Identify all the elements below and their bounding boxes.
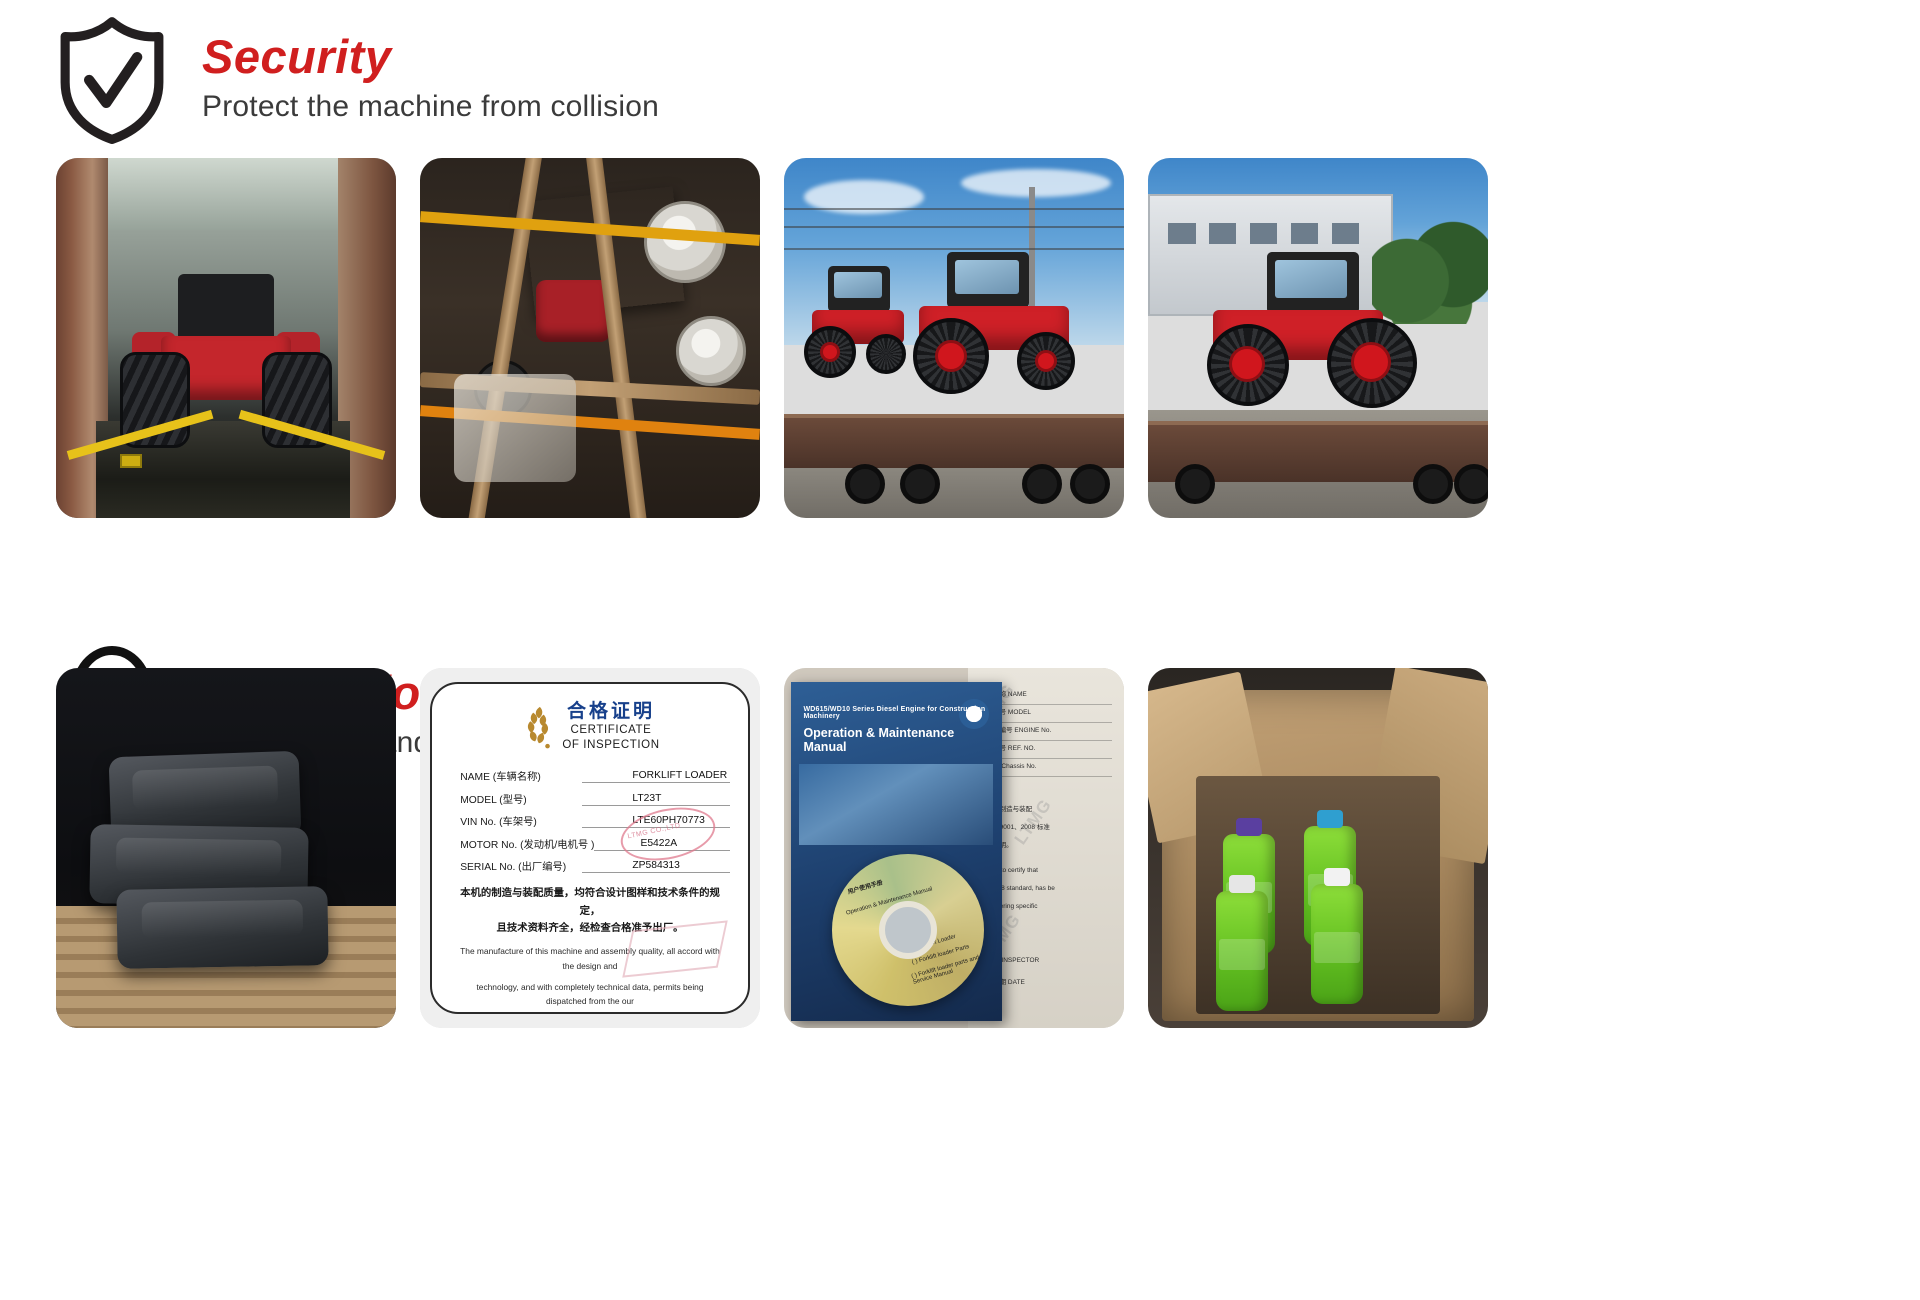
statement-cn-line-1: 本机的制造与装配质量，均符合设计图样和技术条件的规定，: [450, 885, 730, 920]
stamp-text: LTMG CO.,LTD: [627, 822, 681, 840]
row-label-en: MODEL: [1008, 709, 1031, 716]
photo-green-bottles-in-cardboard-box[interactable]: [1148, 668, 1488, 1028]
certificate-card: 合格证明 CERTIFICATE OF INSPECTION NAME (车辆名…: [430, 682, 750, 1013]
statement-en-line-2: technology, and with completely technica…: [450, 980, 730, 1009]
field-label: VIN No. (车架号): [460, 813, 582, 828]
certificate-title-en-2: OF INSPECTION: [562, 738, 659, 752]
row-label-en: REF. NO.: [1008, 745, 1035, 752]
certificate-field-row: MODEL (型号) LT23T: [460, 791, 730, 806]
wheat-laurel-icon: [520, 705, 554, 749]
photo-tractors-loaded-on-flatbed-trailer[interactable]: [784, 158, 1124, 518]
photo-tractor-on-trailer-at-factory-yard[interactable]: [1148, 158, 1488, 518]
certificate-field-row: SERIAL No. (出厂编号) ZP584313: [460, 858, 730, 873]
certificate-title-cn: 合格证明: [562, 702, 659, 723]
photo-grid-security: [56, 158, 1488, 518]
field-label: SERIAL No. (出厂编号): [460, 858, 582, 873]
footer-label-en: INSPECTOR: [1001, 957, 1039, 964]
section-header-security: Security Protect the machine from collis…: [46, 14, 659, 146]
field-label: MODEL (型号): [460, 791, 582, 806]
field-rule: ZP584313: [582, 861, 730, 873]
photo-black-toolboxes-stacked-on-pallet[interactable]: [56, 668, 396, 1028]
section-subtitle-security: Protect the machine from collision: [202, 87, 659, 128]
field-rule: LT23T: [582, 794, 730, 806]
row-label-en: NAME: [1008, 691, 1027, 698]
field-label: MOTOR No. (发动机/电机号 ): [460, 836, 594, 851]
certificate-field-row: NAME (车辆名称) FORKLIFT LOADER: [460, 768, 730, 783]
manual-series-line: WD615/WD10 Series Diesel Engine for Cons…: [803, 706, 989, 720]
section-title-security: Security: [202, 32, 659, 81]
shield-check-icon: [46, 14, 178, 146]
field-value: LT23T: [632, 793, 661, 804]
field-value: FORKLIFT LOADER: [632, 770, 727, 781]
manual-cd-disc: 用户使用手册 Operation & Maintenance Manual ( …: [832, 854, 984, 1006]
row-label-en: ENGINE No.: [1014, 727, 1051, 734]
photo-spare-parts-crate-in-container[interactable]: [420, 158, 760, 518]
photo-tractor-secured-inside-container[interactable]: [56, 158, 396, 518]
manual-title: Operation & Maintenance Manual: [803, 726, 993, 754]
certificate-title-en-1: CERTIFICATE: [562, 723, 659, 737]
row-label-en: Chassis No.: [1001, 763, 1036, 770]
photo-operation-maintenance-manual-and-cd[interactable]: LTMG LTMG LTMG 车辆名称 NAME 车辆型号 MODEL 发动机编…: [784, 668, 1124, 1028]
field-value: ZP584313: [632, 860, 680, 871]
field-label: NAME (车辆名称): [460, 768, 582, 783]
photo-certificate-of-inspection-document[interactable]: 合格证明 CERTIFICATE OF INSPECTION NAME (车辆名…: [420, 668, 760, 1028]
field-rule: FORKLIFT LOADER: [582, 771, 730, 783]
footer-label-en: DATE: [1008, 979, 1025, 986]
photo-grid-professional: 合格证明 CERTIFICATE OF INSPECTION NAME (车辆名…: [56, 668, 1488, 1028]
cd-label-cn: 用户使用手册: [846, 877, 883, 896]
certificate-header: 合格证明 CERTIFICATE OF INSPECTION: [450, 702, 730, 752]
marketing-page: Security Protect the machine from collis…: [0, 0, 1920, 1300]
